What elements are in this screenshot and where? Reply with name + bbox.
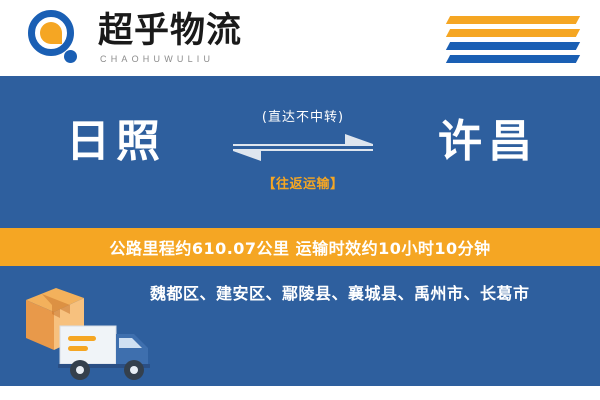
logistics-route-poster: 超乎物流 CHAOHUWULIU 日照 (直达不中转) 【往返运输】 许昌: [0, 0, 600, 400]
route-middle: (直达不中转) 【往返运输】: [228, 106, 378, 192]
bottom-strip: [0, 386, 600, 400]
destination-city: 许昌: [438, 116, 538, 168]
arrow-left-icon: [233, 149, 373, 162]
brand-name-cn: 超乎物流: [98, 12, 298, 50]
route-panel: 日照 (直达不中转) 【往返运输】 许昌: [0, 76, 600, 228]
speed-stripes-icon: [448, 16, 578, 62]
roundtrip-label: 【往返运输】: [228, 173, 378, 192]
arrow-right-icon: [233, 133, 373, 146]
circle-q-logo-icon: [28, 10, 86, 68]
delivery-truck-icon: [22, 274, 152, 386]
brand: 超乎物流 CHAOHUWULIU: [98, 12, 298, 64]
direct-label: (直达不中转): [228, 106, 378, 125]
brand-name-en: CHAOHUWULIU: [98, 54, 298, 64]
summary-text: 公路里程约610.07公里 运输时效约10小时10分钟: [109, 235, 490, 259]
header: 超乎物流 CHAOHUWULIU: [0, 0, 600, 76]
coverage-text: 魏都区、建安区、鄢陵县、襄城县、禹州市、长葛市: [150, 282, 580, 306]
route-arrows: [228, 133, 378, 167]
summary-bar: 公路里程约610.07公里 运输时效约10小时10分钟: [0, 228, 600, 266]
origin-city: 日照: [66, 116, 166, 168]
